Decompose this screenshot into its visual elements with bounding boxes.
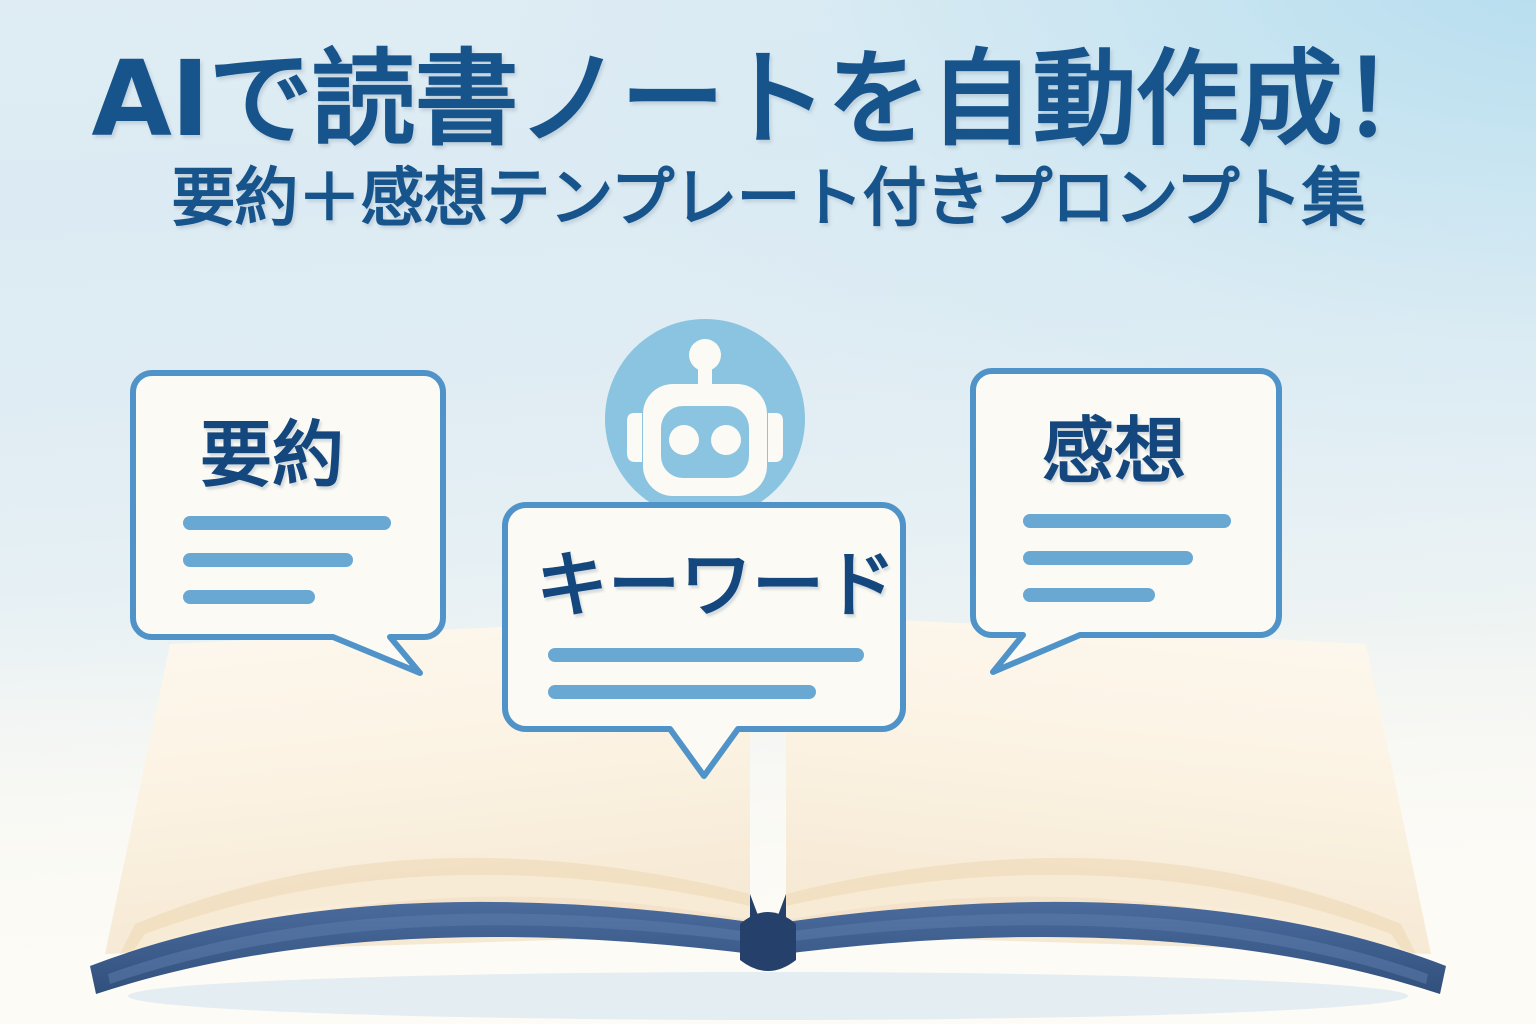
- speech-bubble-keyword[interactable]: キーワード: [500, 500, 908, 782]
- robot-avatar-icon: [598, 312, 812, 526]
- poster-canvas: AIで読書ノートを自動作成！ 要約＋感想テンプレート付きプロンプト集: [0, 0, 1536, 1024]
- bubble-label-keyword: キーワード: [536, 526, 896, 631]
- speech-bubble-impression[interactable]: 感想: [968, 366, 1284, 678]
- bubble-label-summary: 要約: [200, 396, 344, 501]
- speech-bubble-summary[interactable]: 要約: [128, 368, 448, 678]
- bubble-label-impression: 感想: [1042, 392, 1186, 497]
